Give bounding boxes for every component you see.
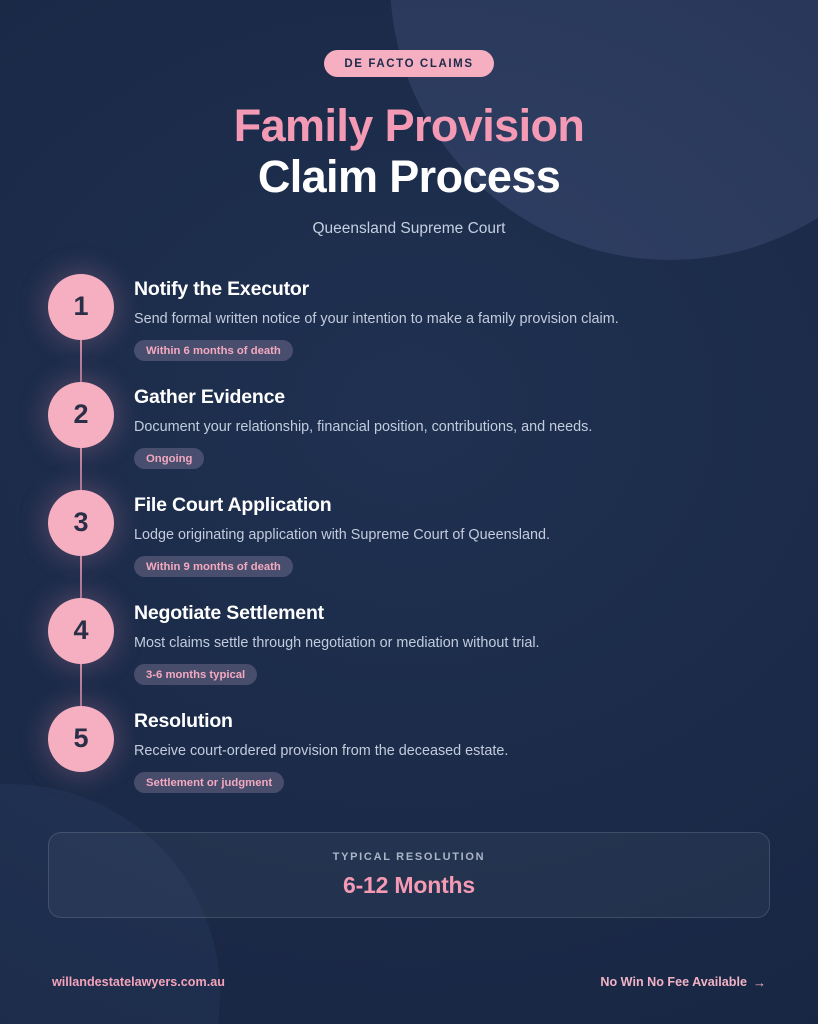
step-connector-line (80, 340, 82, 382)
step-content: Resolution Receive court-ordered provisi… (134, 706, 770, 793)
step-description: Lodge originating application with Supre… (134, 526, 770, 545)
typical-resolution-card: TYPICAL RESOLUTION 6-12 Months (48, 832, 770, 918)
process-step: 3 File Court Application Lodge originati… (48, 490, 770, 598)
page-title-line-1: Family Provision (0, 103, 818, 149)
summary-value: 6-12 Months (343, 872, 475, 899)
step-number-circle: 5 (48, 706, 114, 772)
cta-label: No Win No Fee Available (600, 975, 747, 989)
step-marker-column: 2 (48, 382, 114, 448)
step-content: Notify the Executor Send formal written … (134, 274, 770, 361)
arrow-right-icon: → (753, 976, 766, 989)
step-marker-column: 1 (48, 274, 114, 340)
process-step: 2 Gather Evidence Document your relation… (48, 382, 770, 490)
step-connector-line (80, 664, 82, 706)
step-description: Document your relationship, financial po… (134, 418, 770, 437)
infographic-page: DE FACTO CLAIMS Family Provision Claim P… (0, 0, 818, 1024)
step-content: File Court Application Lodge originating… (134, 490, 770, 577)
page-title: Family Provision Claim Process (0, 103, 818, 200)
step-description: Send formal written notice of your inten… (134, 310, 770, 329)
page-subtitle: Queensland Supreme Court (0, 220, 818, 238)
process-step: 1 Notify the Executor Send formal writte… (48, 274, 770, 382)
step-timing-badge: 3-6 months typical (134, 664, 257, 685)
step-number-circle: 1 (48, 274, 114, 340)
summary-label: TYPICAL RESOLUTION (333, 851, 486, 863)
eyebrow-badge: DE FACTO CLAIMS (324, 50, 493, 77)
step-title: Notify the Executor (134, 278, 770, 301)
step-description: Receive court-ordered provision from the… (134, 742, 770, 761)
website-link[interactable]: willandestatelawyers.com.au (52, 975, 225, 989)
step-marker-column: 5 (48, 706, 114, 772)
step-title: Negotiate Settlement (134, 602, 770, 625)
step-connector-line (80, 556, 82, 598)
step-marker-column: 4 (48, 598, 114, 664)
step-number-circle: 2 (48, 382, 114, 448)
step-content: Negotiate Settlement Most claims settle … (134, 598, 770, 685)
process-step: 4 Negotiate Settlement Most claims settl… (48, 598, 770, 706)
no-win-no-fee-cta[interactable]: No Win No Fee Available → (600, 975, 766, 989)
step-title: Resolution (134, 710, 770, 733)
header: DE FACTO CLAIMS Family Provision Claim P… (0, 0, 818, 238)
step-title: Gather Evidence (134, 386, 770, 409)
step-timing-badge: Within 9 months of death (134, 556, 293, 577)
step-content: Gather Evidence Document your relationsh… (134, 382, 770, 469)
step-timing-badge: Within 6 months of death (134, 340, 293, 361)
step-marker-column: 3 (48, 490, 114, 556)
page-title-line-2: Claim Process (0, 154, 818, 200)
step-number-circle: 4 (48, 598, 114, 664)
process-step: 5 Resolution Receive court-ordered provi… (48, 706, 770, 810)
footer: willandestatelawyers.com.au No Win No Fe… (52, 975, 766, 989)
step-connector-line (80, 448, 82, 490)
step-timing-badge: Ongoing (134, 448, 204, 469)
process-steps-list: 1 Notify the Executor Send formal writte… (0, 274, 818, 810)
step-timing-badge: Settlement or judgment (134, 772, 284, 793)
step-description: Most claims settle through negotiation o… (134, 634, 770, 653)
step-number-circle: 3 (48, 490, 114, 556)
step-title: File Court Application (134, 494, 770, 517)
